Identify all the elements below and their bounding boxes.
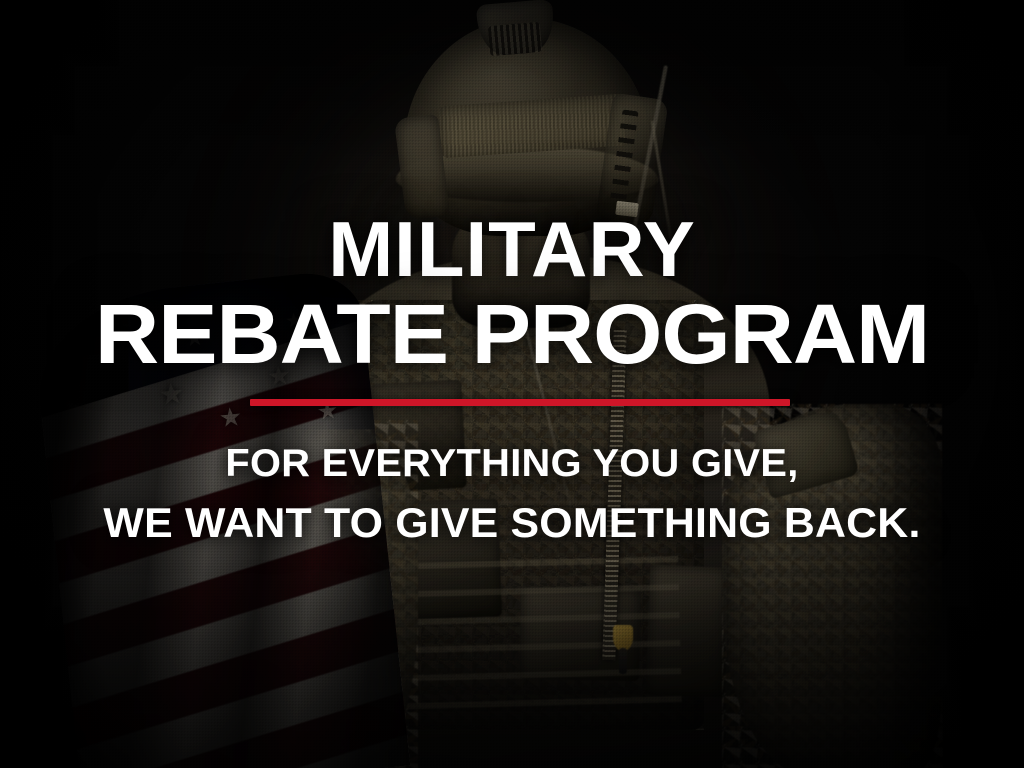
headline-line-2: REBATE PROGRAM	[0, 296, 1024, 373]
subtitle-line-2: WE WANT TO GIVE SOMETHING BACK.	[0, 502, 1024, 545]
headline-line-1: MILITARY	[0, 214, 1024, 286]
accent-divider-rule	[250, 399, 790, 406]
banner-content: MILITARY REBATE PROGRAM FOR EVERYTHING Y…	[0, 0, 1024, 768]
promo-banner: ★ ★ ★ ★ ★ ★ MILITARY REBATE PROGRAM FOR …	[0, 0, 1024, 768]
subtitle-line-1: FOR EVERYTHING YOU GIVE,	[0, 444, 1024, 484]
